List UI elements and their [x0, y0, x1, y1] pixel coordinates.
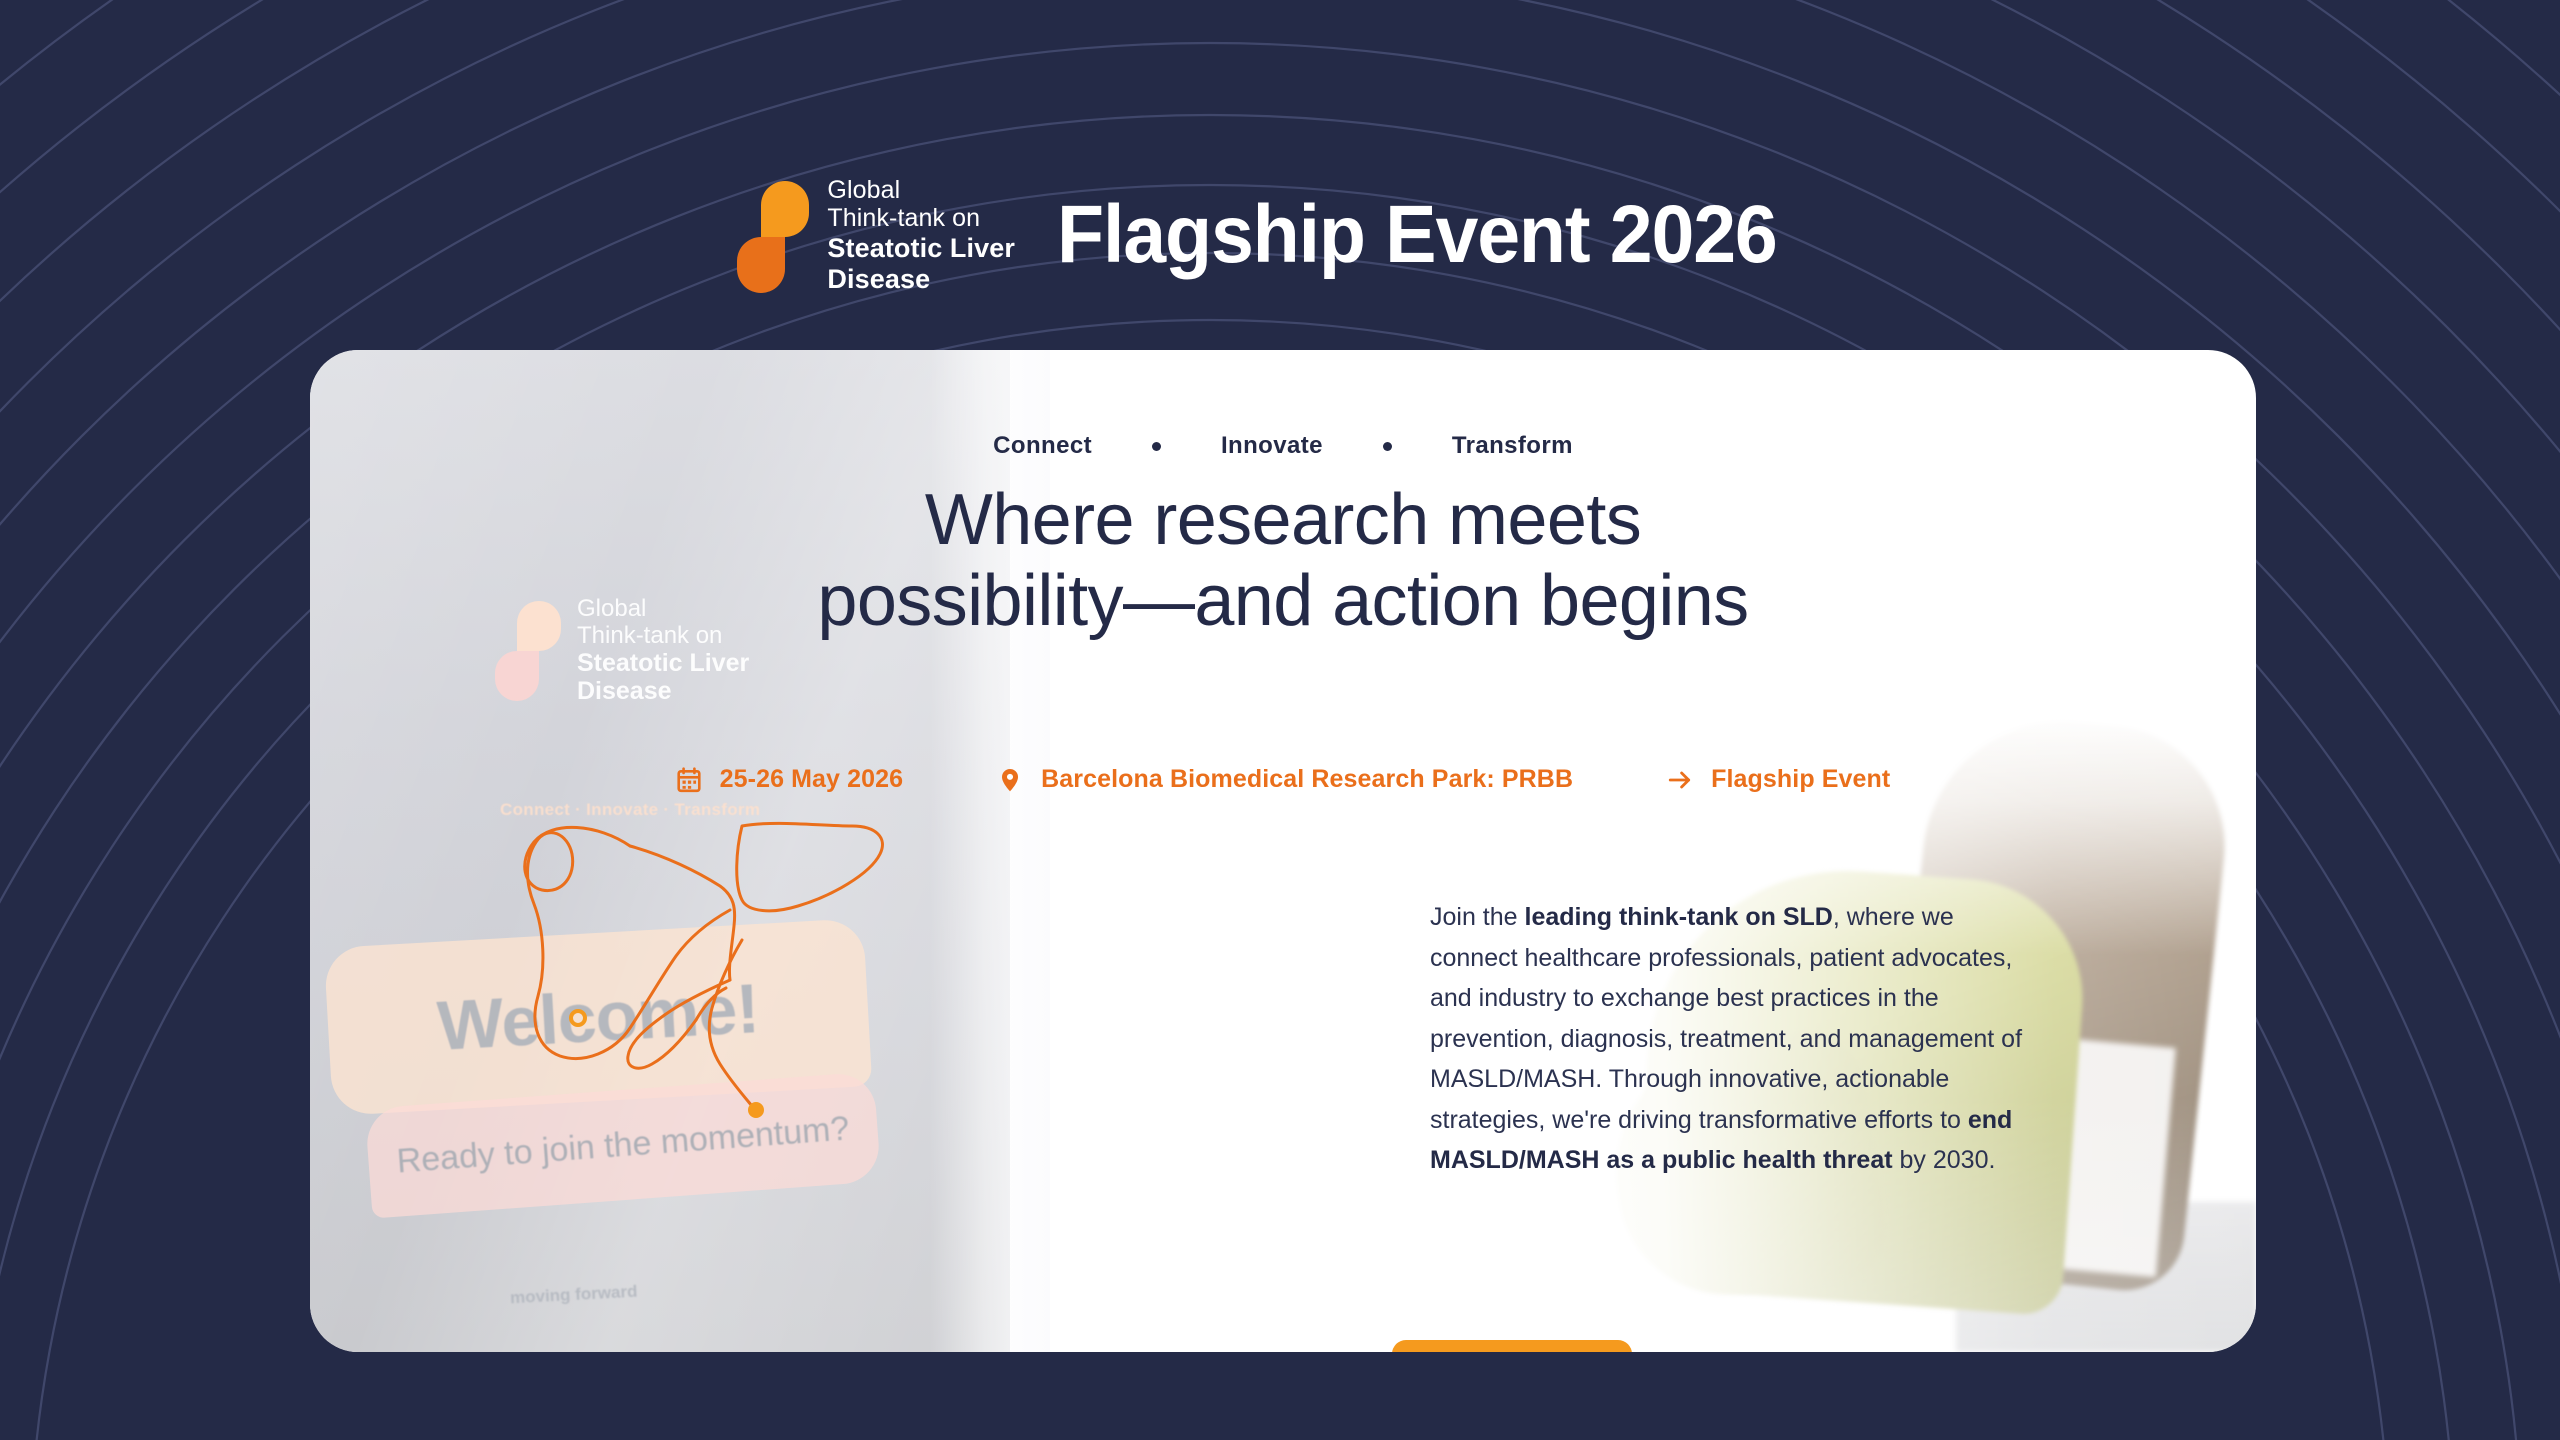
eyebrow-dot-1 [1152, 442, 1161, 451]
cta-button[interactable] [1392, 1340, 1632, 1352]
arrow-right-icon [1667, 767, 1693, 793]
logo-line-2: Think-tank on [827, 204, 1015, 233]
logo-line-4: Disease [827, 264, 1015, 295]
event-meta-row: 25-26 May 2026 Barcelona Biomedical Rese… [310, 765, 2256, 794]
body-part-3: by 2030. [1893, 1146, 1996, 1174]
meta-venue-label: Barcelona Biomedical Research Park: PRBB [1041, 765, 1573, 794]
body-part-1: Join the [1430, 903, 1525, 931]
headline-line-2: possibility—and action begins [310, 561, 2256, 642]
body-part-2: , where we connect healthcare profession… [1430, 903, 2022, 1134]
logo-wordmark: Global Think-tank on Steatotic Liver Dis… [827, 176, 1015, 295]
eyebrow-connect: Connect [993, 432, 1092, 460]
page-title: Flagship Event 2026 [1057, 188, 1777, 282]
logo-shape-bottom [737, 237, 785, 293]
eyebrow-innovate: Innovate [1221, 432, 1323, 460]
page-header: Global Think-tank on Steatotic Liver Dis… [0, 170, 2560, 300]
eyebrow-tagline: Connect Innovate Transform [310, 432, 2256, 460]
meta-event-type-label: Flagship Event [1711, 765, 1890, 794]
logo-line-1: Global [827, 176, 1015, 205]
logo-line-3: Steatotic Liver [827, 233, 1015, 264]
logo-shape-top [761, 181, 809, 237]
calendar-icon [676, 767, 702, 793]
eyebrow-transform: Transform [1452, 432, 1573, 460]
meta-event-type[interactable]: Flagship Event [1667, 765, 1890, 794]
meta-date-label: 25-26 May 2026 [720, 765, 903, 794]
body-bold-1: leading think-tank on SLD [1525, 903, 1833, 931]
eyebrow-dot-2 [1383, 442, 1392, 451]
meta-date[interactable]: 25-26 May 2026 [676, 765, 903, 794]
meta-venue[interactable]: Barcelona Biomedical Research Park: PRBB [997, 765, 1573, 794]
hero-card: Global Think-tank on Steatotic Liver Dis… [310, 350, 2256, 1352]
hero-body-copy: Join the leading think-tank on SLD, wher… [1430, 897, 2030, 1181]
headline-line-1: Where research meets [310, 480, 2256, 561]
brand-lockup: Global Think-tank on Steatotic Liver Dis… [737, 176, 1015, 295]
card-content: Connect Innovate Transform Where researc… [310, 350, 2256, 1352]
gtt-sld-logo-mark-icon [737, 181, 809, 289]
hero-headline: Where research meets possibility—and act… [310, 480, 2256, 643]
location-pin-icon [997, 767, 1023, 793]
